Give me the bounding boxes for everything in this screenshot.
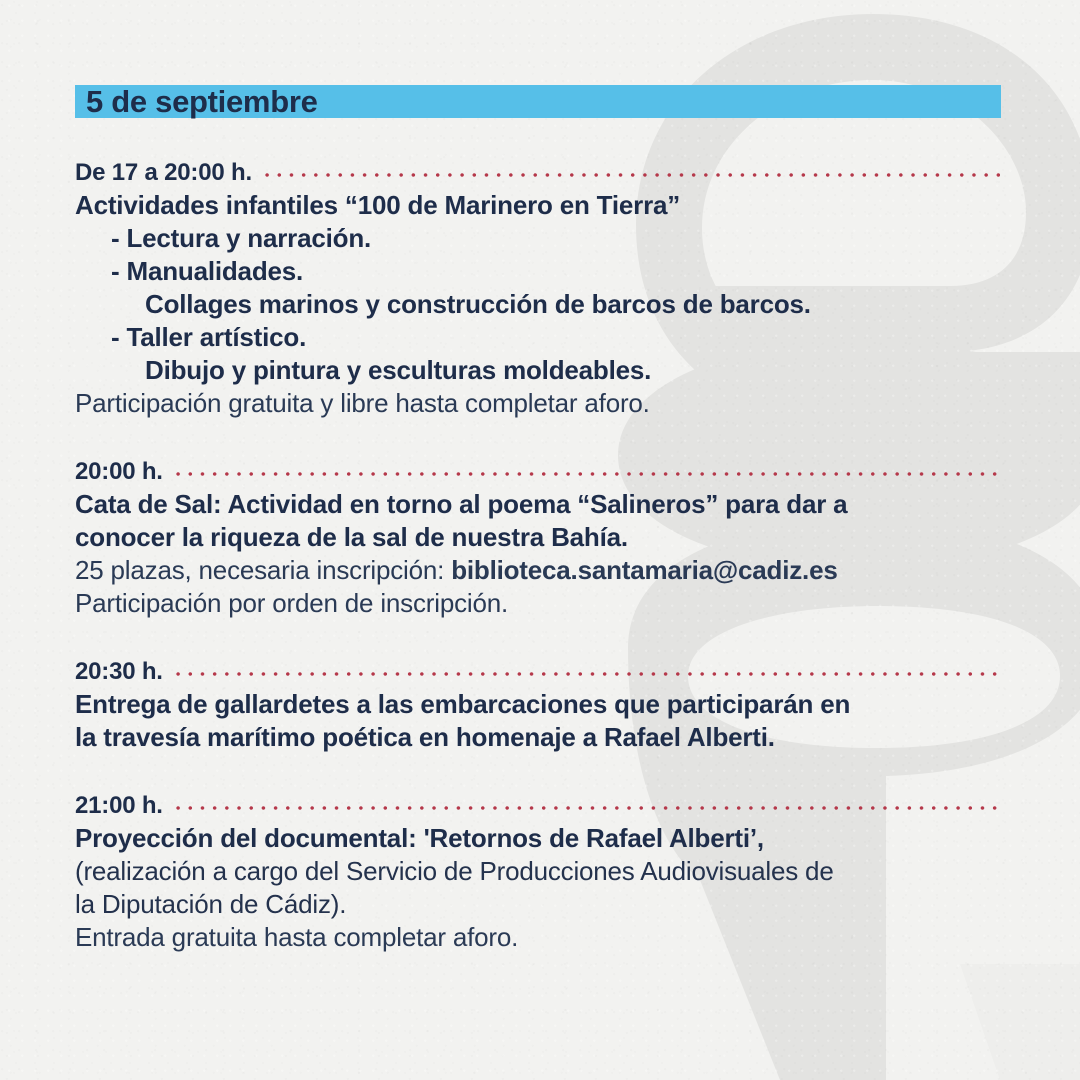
time-label: 20:30 h. — [75, 660, 163, 684]
schedule-line-text: 25 plazas, necesaria inscripción: — [75, 555, 451, 585]
schedule-line: - Taller artístico. — [75, 321, 1000, 354]
schedule-block: De 17 a 20:00 h.Actividades infantiles “… — [75, 155, 1000, 420]
schedule-line: Entrada gratuita hasta completar aforo. — [75, 921, 1000, 954]
schedule-block: 20:30 h.Entrega de gallardetes a las emb… — [75, 654, 1000, 754]
schedule-line: Collages marinos y construcción de barco… — [75, 288, 1000, 321]
schedule-line: Proyección del documental: 'Retornos de … — [75, 822, 1000, 855]
schedule-line: 25 plazas, necesaria inscripción: biblio… — [75, 554, 1000, 587]
schedule-line: Actividades infantiles “100 de Marinero … — [75, 189, 1000, 222]
time-heading-row: 20:30 h. — [75, 654, 1000, 684]
schedule-line: (realización a cargo del Servicio de Pro… — [75, 855, 1000, 888]
date-banner: 5 de septiembre — [75, 85, 1001, 118]
schedule-line: - Manualidades. — [75, 255, 1000, 288]
dotted-leader-line — [172, 801, 1000, 815]
dotted-leader-line — [172, 467, 1000, 481]
schedule-line: conocer la riqueza de la sal de nuestra … — [75, 521, 1000, 554]
time-heading-row: De 17 a 20:00 h. — [75, 155, 1000, 185]
schedule-line: la Diputación de Cádiz). — [75, 888, 1000, 921]
dotted-leader-line — [172, 667, 1000, 681]
schedule-line: Cata de Sal: Actividad en torno al poema… — [75, 488, 1000, 521]
schedule-line: Entrega de gallardetes a las embarcacion… — [75, 688, 1000, 721]
schedule-line: Participación gratuita y libre hasta com… — [75, 387, 1000, 420]
program-page: 5 de septiembre De 17 a 20:00 h.Activida… — [0, 0, 1080, 1080]
time-heading-row: 20:00 h. — [75, 454, 1000, 484]
schedule-line: Participación por orden de inscripción. — [75, 587, 1000, 620]
time-label: 20:00 h. — [75, 460, 163, 484]
contact-email[interactable]: biblioteca.santamaria@cadiz.es — [451, 555, 837, 585]
time-label: De 17 a 20:00 h. — [75, 161, 252, 185]
time-label: 21:00 h. — [75, 794, 163, 818]
time-heading-row: 21:00 h. — [75, 788, 1000, 818]
date-banner-label: 5 de septiembre — [86, 86, 318, 117]
schedule-block: 21:00 h.Proyección del documental: 'Reto… — [75, 788, 1000, 954]
schedule-line: - Lectura y narración. — [75, 222, 1000, 255]
schedule-block: 20:00 h.Cata de Sal: Actividad en torno … — [75, 454, 1000, 620]
dotted-leader-line — [261, 168, 1000, 182]
schedule-line: la travesía marítimo poética en homenaje… — [75, 721, 1000, 754]
schedule-line: Dibujo y pintura y esculturas moldeables… — [75, 354, 1000, 387]
schedule-blocks: De 17 a 20:00 h.Actividades infantiles “… — [75, 155, 1000, 954]
